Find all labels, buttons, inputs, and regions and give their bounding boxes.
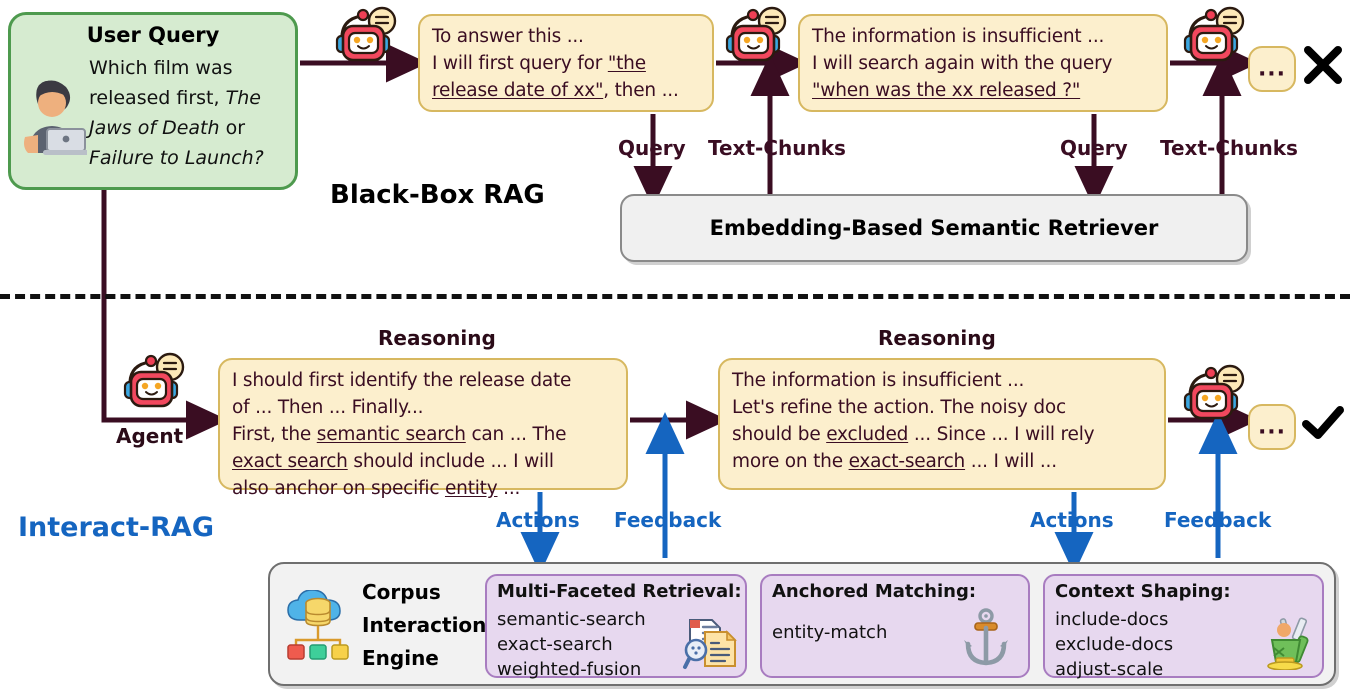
user-laptop-icon (19, 77, 87, 155)
label-query-1: Query (618, 136, 686, 160)
action-group-multi-faceted-retrieval[interactable]: Multi-Faceted Retrieval: semantic-search… (485, 574, 747, 678)
blackbox-ellipsis-text: ... (1250, 57, 1294, 82)
action-item[interactable]: adjust-scale (1055, 657, 1173, 682)
bb1-line2b: "the (608, 53, 646, 74)
bb2-line3: "when was the xx released ?" (812, 80, 1080, 101)
label-actions-1: Actions (496, 508, 580, 532)
rb2-line3b: excluded (826, 424, 908, 445)
label-actions-2: Actions (1030, 508, 1114, 532)
query-line-3a: Jaws of Death (89, 117, 220, 139)
query-line-3b: or (220, 117, 245, 139)
document-search-icon (681, 614, 737, 670)
action-group-context-shaping[interactable]: Context Shaping: include-docs exclude-do… (1043, 574, 1324, 678)
rb1-line4a: exact search (232, 451, 348, 472)
sculpting-tools-icon (1258, 614, 1314, 670)
rb1-line4b: should include ... I will (348, 451, 554, 472)
rb1-line5a: also anchor on specific (232, 478, 445, 499)
action-item[interactable]: exact-search (497, 632, 646, 657)
robot-icon-agent (118, 352, 196, 414)
query-line-4: Failure to Launch? (89, 147, 264, 169)
action-item[interactable]: semantic-search (497, 607, 646, 632)
blackbox-thought-text-2: The information is insufficient ... I wi… (812, 23, 1158, 104)
interact-ellipsis-box: ... (1248, 404, 1296, 450)
rb2-line4b: exact-search (849, 451, 966, 472)
rb1-line3a: First, the (232, 424, 317, 445)
action-item[interactable]: exclude-docs (1055, 632, 1173, 657)
cloud-database-icon (284, 590, 356, 662)
user-query-text: Which film was released first, The Jaws … (89, 53, 285, 173)
check-mark-icon (1300, 400, 1346, 446)
anchor-icon (962, 608, 1010, 668)
action-group-title: Context Shaping: (1055, 581, 1231, 602)
cross-mark-icon (1302, 42, 1344, 88)
bb1-line1: To answer this ... (432, 26, 584, 47)
corpus-interaction-engine-panel: Corpus Interaction Engine Multi-Faceted … (268, 562, 1336, 686)
label-agent: Agent (116, 424, 183, 448)
engine-title: Corpus Interaction Engine (362, 576, 474, 675)
bb1-line3b: , then ... (603, 80, 678, 101)
user-query-title: User Query (11, 23, 295, 47)
semantic-retriever-label: Embedding-Based Semantic Retriever (622, 216, 1246, 240)
action-item[interactable]: entity-match (772, 620, 887, 645)
robot-icon-4 (1178, 364, 1256, 426)
section-label-interact-rag: Interact-RAG (18, 512, 214, 543)
section-divider (0, 294, 1350, 299)
rb1-line1: I should first identify the release date (232, 370, 571, 391)
label-text-chunks-1: Text-Chunks (708, 136, 846, 160)
action-group-anchored-matching[interactable]: Anchored Matching: entity-match (760, 574, 1030, 678)
user-query-box: User Query Which film was released first… (8, 12, 298, 190)
interact-ellipsis-text: ... (1250, 415, 1294, 440)
rb1-line5c: ... (498, 478, 521, 499)
label-feedback-2: Feedback (1164, 508, 1271, 532)
bb2-line1: The information is insufficient ... (812, 26, 1104, 47)
label-query-2: Query (1060, 136, 1128, 160)
engine-title-line-3: Engine (362, 646, 439, 670)
query-line-1: Which film was (89, 57, 233, 79)
rb2-line3a: should be (732, 424, 826, 445)
label-text-chunks-2: Text-Chunks (1160, 136, 1298, 160)
query-line-2a: released first, (89, 87, 226, 109)
rb2-line4c: ... I will ... (965, 451, 1057, 472)
action-group-items: entity-match (772, 620, 887, 645)
rb1-line3b: semantic search (317, 424, 466, 445)
action-group-items: semantic-search exact-search weighted-fu… (497, 607, 646, 682)
semantic-retriever-box: Embedding-Based Semantic Retriever (620, 194, 1248, 262)
query-line-2b: The (226, 87, 261, 109)
interact-reasoning-box-2: The information is insufficient ... Let'… (718, 358, 1166, 490)
rb1-line3c: can ... The (466, 424, 567, 445)
rb2-line1: The information is insufficient ... (732, 370, 1024, 391)
action-group-items: include-docs exclude-docs adjust-scale (1055, 607, 1173, 682)
interact-reasoning-box-1: I should first identify the release date… (218, 358, 628, 490)
interact-reasoning-text-1: I should first identify the release date… (232, 367, 618, 502)
bb1-line3a: release date of xx" (432, 80, 603, 101)
interact-reasoning-text-2: The information is insufficient ... Let'… (732, 367, 1156, 475)
rb1-line2: of ... Then ... Finally... (232, 397, 423, 418)
engine-title-line-1: Corpus (362, 580, 441, 604)
rb2-line4a: more on the (732, 451, 849, 472)
blackbox-thought-box-1: To answer this ... I will first query fo… (418, 14, 714, 112)
blackbox-thought-text-1: To answer this ... I will first query fo… (432, 23, 704, 104)
section-label-blackbox-rag: Black-Box RAG (330, 180, 545, 210)
blackbox-ellipsis-box: ... (1248, 46, 1296, 92)
bb1-line2a: I will first query for (432, 53, 608, 74)
bb2-line2: I will search again with the query (812, 53, 1112, 74)
rb2-line2: Let's refine the action. The noisy doc (732, 397, 1066, 418)
action-item[interactable]: weighted-fusion (497, 657, 646, 682)
action-group-title: Multi-Faceted Retrieval: (497, 581, 742, 602)
robot-icon-2 (720, 6, 798, 68)
blackbox-thought-box-2: The information is insufficient ... I wi… (798, 14, 1168, 112)
action-item[interactable]: include-docs (1055, 607, 1173, 632)
action-group-title: Anchored Matching: (772, 581, 976, 602)
diagram-canvas: User Query Which film was released first… (0, 0, 1350, 696)
label-reasoning-2: Reasoning (878, 326, 996, 350)
label-reasoning-1: Reasoning (378, 326, 496, 350)
robot-icon-1 (330, 6, 408, 68)
label-feedback-1: Feedback (614, 508, 721, 532)
engine-title-line-2: Interaction (362, 613, 486, 637)
rb2-line3c: ... Since ... I will rely (908, 424, 1094, 445)
robot-icon-3 (1178, 6, 1256, 68)
rb1-line5b: entity (445, 478, 498, 499)
